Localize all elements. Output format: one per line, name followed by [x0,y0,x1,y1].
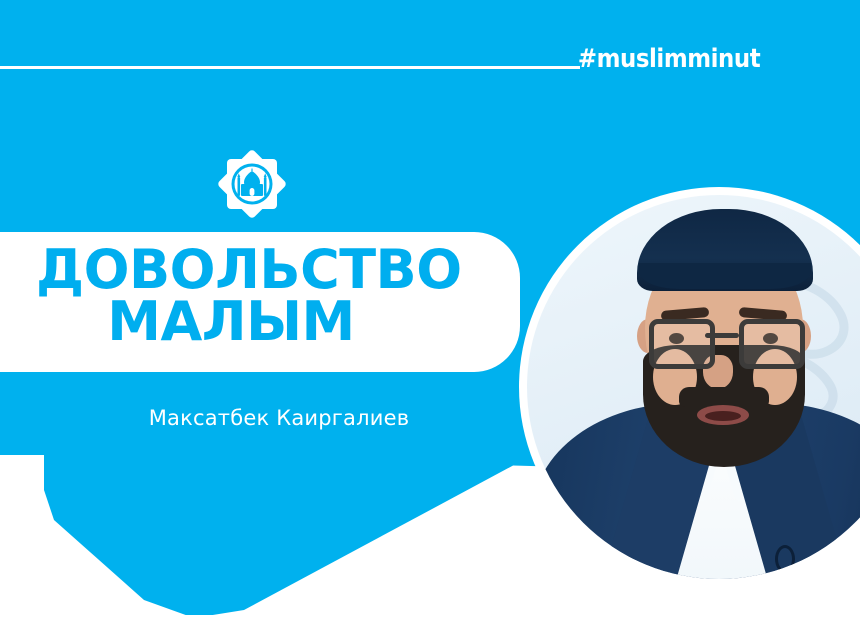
hashtag-label: #muslimminut [578,44,760,74]
header-divider-rule [0,66,580,69]
lapel-microphone-icon [775,545,795,573]
mouth-inner [705,411,741,421]
eyeglasses-lens-left [649,319,715,369]
portrait-person-figure [527,195,860,579]
page-title: ДОВОЛЬСТВО МАЛЫМ [36,244,506,349]
speaker-portrait [519,187,860,587]
title-line-2: МАЛЫМ [36,296,506,348]
taqiyah-cap-band [639,263,811,289]
slide-canvas: #muslimminut [0,0,860,642]
title-line-1: ДОВОЛЬСТВО [36,244,506,296]
eyeglasses-lens-right [739,319,805,369]
eyeglasses-bridge [705,333,739,338]
mustache-shape [679,387,769,407]
portrait-photo-disc [527,195,860,579]
mosque-star-emblem-icon [218,150,286,218]
speaker-name-label: Максатбек Каиргалиев [44,406,514,430]
